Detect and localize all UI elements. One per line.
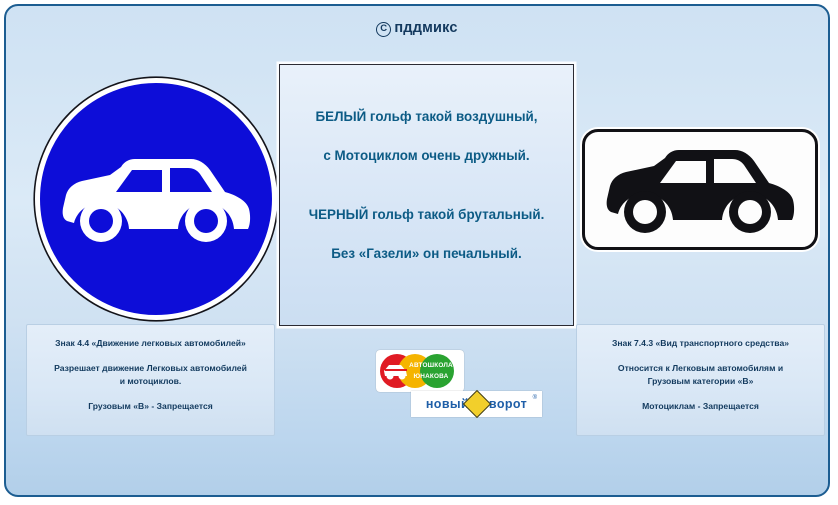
logo-block: АВТОШКОЛА ЮНАКОВА новый поворот ® — [376, 350, 542, 418]
driving-school-line-2: ЮНАКОВА — [400, 372, 462, 383]
driving-school-line-1: АВТОШКОЛА — [400, 361, 462, 372]
caption-left-body-2: и мотоциклов. — [27, 375, 274, 387]
rhyme-line-1: БЕЛЫЙ гольф такой воздушный, — [280, 109, 573, 124]
caption-left-title: Знак 4.4 «Движение легковых автомобилей» — [27, 337, 274, 349]
rhyme-line-2: с Мотоциклом очень дружный. — [280, 148, 573, 163]
caption-left-body-1: Разрешает движение Легковых автомобилей — [27, 362, 274, 374]
rhyme-text-box: БЕЛЫЙ гольф такой воздушный, с Мотоцикло… — [279, 64, 574, 326]
black-car-silhouette-icon — [602, 142, 798, 238]
page-title: Cпддмикс — [6, 20, 828, 37]
caption-right-note: Мотоциклам - Запрещается — [577, 400, 824, 412]
road-sign-4-4 — [35, 78, 277, 320]
caption-panel-left: Знак 4.4 «Движение легковых автомобилей»… — [26, 324, 275, 436]
caption-right-body-1: Относится к Легковым автомобилям и — [577, 362, 824, 374]
copyright-icon: C — [376, 22, 391, 37]
site-name-label: пддмикс — [394, 20, 457, 36]
new-turn-logo[interactable]: новый поворот ® — [411, 391, 542, 417]
rhyme-line-3: ЧЕРНЫЙ гольф такой брутальный. — [280, 207, 573, 222]
caption-right-body-2: Грузовым категории «В» — [577, 375, 824, 387]
caption-panel-right: Знак 7.4.3 «Вид транспортного средства» … — [576, 324, 825, 436]
caption-right-title: Знак 7.4.3 «Вид транспортного средства» — [577, 337, 824, 349]
slide-canvas: Cпддмикс БЕЛЫЙ гольф такой воздушный, с … — [4, 4, 830, 497]
caption-left-note: Грузовым «В» - Запрещается — [27, 400, 274, 412]
road-sign-7-4-3 — [582, 129, 818, 250]
rhyme-line-4: Без «Газели» он печальный. — [280, 246, 573, 261]
trademark-symbol: ® — [533, 395, 537, 401]
white-car-silhouette-icon — [58, 151, 254, 247]
driving-school-logo[interactable]: АВТОШКОЛА ЮНАКОВА — [376, 350, 464, 392]
